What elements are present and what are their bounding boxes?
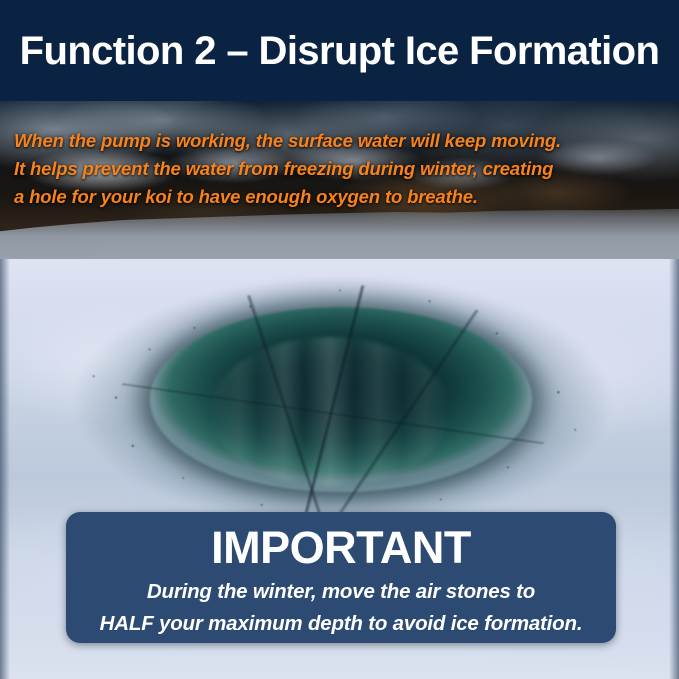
photo-edge-right-vignette bbox=[669, 259, 679, 679]
important-callout: IMPORTANT During the winter, move the ai… bbox=[66, 512, 616, 643]
page-title: Function 2 – Disrupt Ice Formation bbox=[20, 31, 660, 71]
important-line-1: During the winter, move the air stones t… bbox=[80, 576, 602, 608]
important-subtext: During the winter, move the air stones t… bbox=[80, 576, 602, 640]
description-line-1: When the pump is working, the surface wa… bbox=[14, 127, 665, 155]
header-band: Function 2 – Disrupt Ice Formation bbox=[0, 0, 679, 101]
ice-cracks-layer bbox=[120, 285, 560, 515]
infographic-root: Function 2 – Disrupt Ice Formation When … bbox=[0, 0, 679, 679]
important-title: IMPORTANT bbox=[80, 522, 602, 574]
description-line-2: It helps prevent the water from freezing… bbox=[14, 155, 665, 183]
photo-edge-left-vignette bbox=[0, 259, 10, 679]
important-line-2: HALF your maximum depth to avoid ice for… bbox=[80, 608, 602, 640]
description-line-3: a hole for your koi to have enough oxyge… bbox=[14, 183, 665, 211]
description-paragraph: When the pump is working, the surface wa… bbox=[0, 127, 679, 211]
